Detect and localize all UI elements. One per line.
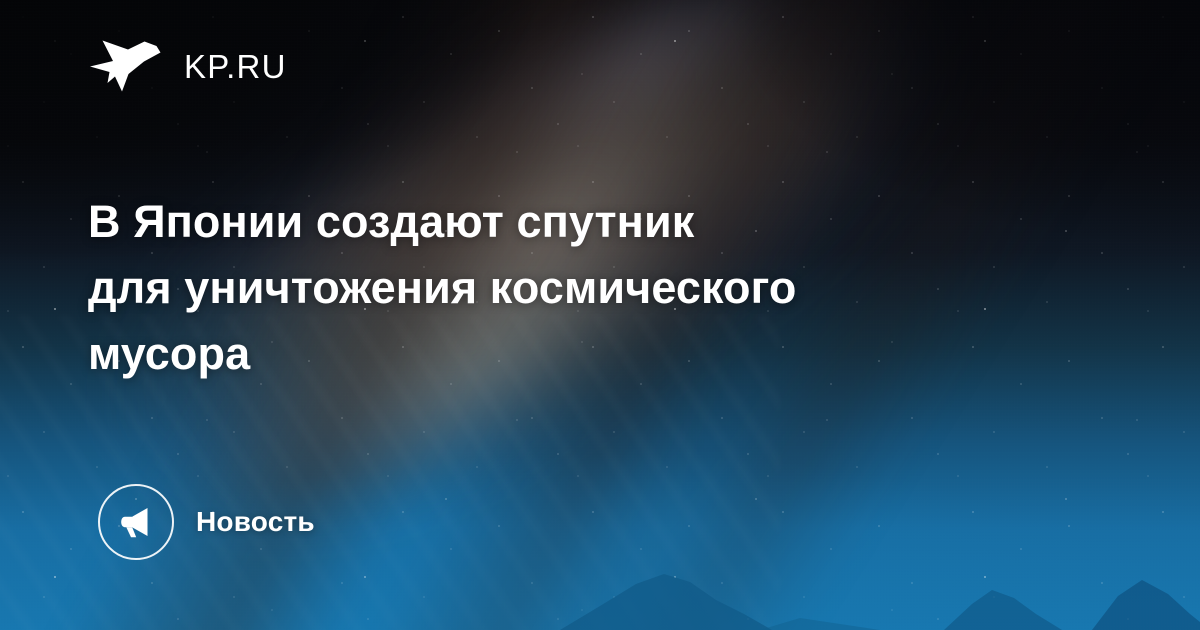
header: KP.RU	[88, 34, 287, 98]
badge-circle	[98, 484, 174, 560]
headline-line-1: В Японии создают спутник	[88, 189, 1098, 255]
megaphone-icon	[117, 503, 155, 541]
category-badge: Новость	[98, 484, 315, 560]
headline-line-2: для уничтожения космического	[88, 255, 1098, 321]
badge-label: Новость	[196, 508, 315, 536]
headline-line-3: мусора	[88, 321, 1098, 387]
swallow-bird-icon	[88, 34, 162, 98]
share-card: KP.RU В Японии создают спутник для уничт…	[0, 0, 1200, 630]
page-title: В Японии создают спутник для уничтожения…	[88, 189, 1098, 387]
brand-name: KP.RU	[184, 50, 287, 83]
